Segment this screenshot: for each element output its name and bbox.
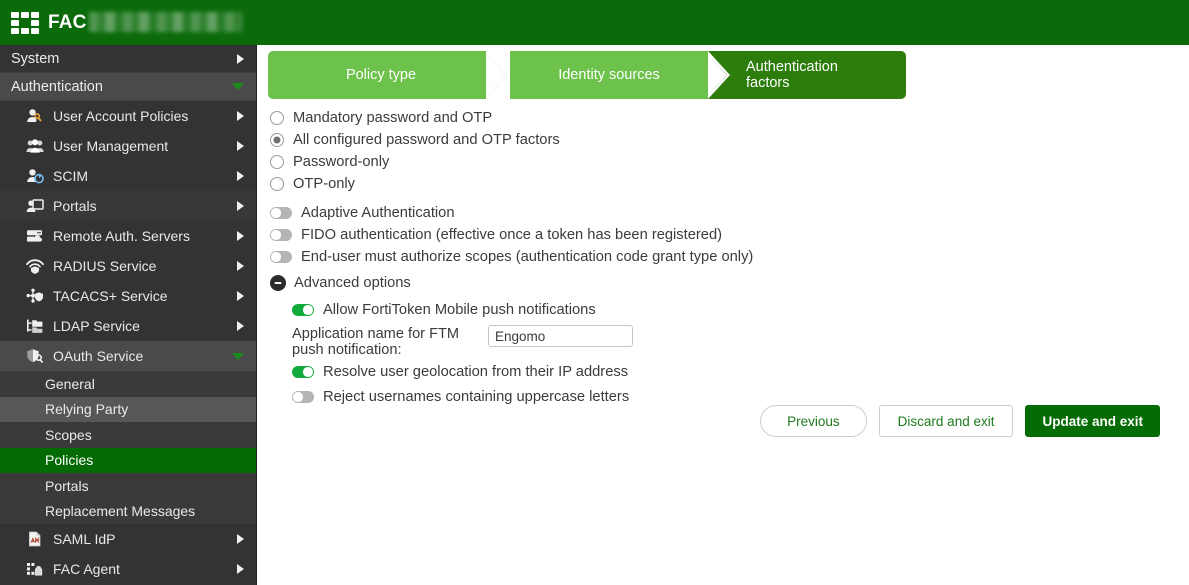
- tacacs-shield-icon: [24, 287, 46, 305]
- server-cloud-icon: [24, 227, 46, 245]
- toggle-label-reject-uppercase-usernames: Reject usernames containing uppercase le…: [323, 389, 629, 405]
- sidebar-item-portals-label: Portals: [53, 198, 237, 214]
- ftm-app-name-input[interactable]: [488, 325, 633, 347]
- sidebar-item-scim[interactable]: SCIM: [0, 161, 256, 191]
- app-root: FAC System Authentication User Account P…: [0, 0, 1189, 585]
- sidebar-section-authentication[interactable]: Authentication: [0, 73, 256, 101]
- radio-row-password-only[interactable]: Password-only: [270, 151, 753, 173]
- radio-icon-selected[interactable]: [270, 133, 284, 147]
- advanced-options-header[interactable]: Advanced options: [270, 272, 753, 294]
- sidebar-item-user-account-policies-label: User Account Policies: [53, 108, 237, 124]
- sidebar-section-authentication-label: Authentication: [11, 79, 232, 95]
- sidebar-item-tacacs-service[interactable]: TACACS+ Service: [0, 281, 256, 311]
- sidebar-item-radius-service-label: RADIUS Service: [53, 258, 237, 274]
- wizard-step-identity-sources-label: Identity sources: [558, 67, 660, 83]
- sidebar-item-saml-idp[interactable]: SAML IdP: [0, 524, 256, 554]
- sidebar-item-remote-auth-servers[interactable]: Remote Auth. Servers: [0, 221, 256, 251]
- oauth-shield-key-icon: [24, 347, 46, 365]
- sidebar-item-portals[interactable]: Portals: [0, 191, 256, 221]
- sidebar-item-tacacs-service-label: TACACS+ Service: [53, 288, 237, 304]
- toggle-switch-off-icon[interactable]: [270, 251, 292, 263]
- chevron-right-icon: [237, 291, 244, 301]
- toggle-row-reject-uppercase-usernames[interactable]: Reject usernames containing uppercase le…: [292, 386, 753, 408]
- wizard-steps: Policy type Identity sources Authenticat…: [268, 51, 906, 99]
- chevron-down-icon: [232, 83, 244, 90]
- ftm-app-name-field-group: Application name for FTM push notificati…: [292, 325, 753, 358]
- chevron-right-icon: [237, 201, 244, 211]
- radio-label-otp-only: OTP-only: [293, 176, 355, 192]
- radio-row-all-configured-factors[interactable]: All configured password and OTP factors: [270, 129, 753, 151]
- sidebar-item-ldap-service-label: LDAP Service: [53, 318, 237, 334]
- sidebar-subitem-portals[interactable]: Portals: [0, 473, 256, 499]
- sidebar-section-system[interactable]: System: [0, 45, 256, 73]
- user-wrench-icon: [24, 107, 46, 125]
- sidebar-section-system-label: System: [11, 51, 237, 67]
- chevron-right-icon: [237, 111, 244, 121]
- step-arrow-icon: [708, 51, 732, 99]
- toggle-switch-off-icon[interactable]: [292, 391, 314, 403]
- advanced-options-body: Allow FortiToken Mobile push notificatio…: [292, 299, 753, 408]
- toggle-row-fortitoken-push[interactable]: Allow FortiToken Mobile push notificatio…: [292, 299, 753, 321]
- top-header-bar: FAC: [0, 0, 1189, 45]
- sidebar-subitem-replacement-messages[interactable]: Replacement Messages: [0, 499, 256, 525]
- minus-circle-icon[interactable]: [270, 275, 286, 291]
- main-content: Policy type Identity sources Authenticat…: [258, 45, 1189, 585]
- chevron-right-icon: [237, 261, 244, 271]
- radio-row-mandatory-password-otp[interactable]: Mandatory password and OTP: [270, 107, 753, 129]
- user-screen-icon: [24, 197, 46, 215]
- sidebar-item-remote-auth-servers-label: Remote Auth. Servers: [53, 228, 237, 244]
- toggle-label-fido-authentication: FIDO authentication (effective once a to…: [301, 227, 722, 243]
- wizard-step-identity-sources[interactable]: Identity sources: [510, 51, 708, 99]
- saml-document-icon: [24, 530, 46, 548]
- brand-redacted-block: [89, 12, 242, 32]
- sidebar-item-user-account-policies[interactable]: User Account Policies: [0, 101, 256, 131]
- toggle-row-fido-authentication[interactable]: FIDO authentication (effective once a to…: [270, 224, 753, 246]
- toggle-row-resolve-geolocation[interactable]: Resolve user geolocation from their IP a…: [292, 361, 753, 383]
- toggle-label-adaptive-authentication: Adaptive Authentication: [301, 205, 455, 221]
- chevron-right-icon: [237, 231, 244, 241]
- ftm-app-name-label: Application name for FTM push notificati…: [292, 325, 488, 358]
- oauth-subnav: General Relying Party Scopes Policies Po…: [0, 371, 256, 524]
- wizard-action-buttons: Previous Discard and exit Update and exi…: [760, 405, 1160, 437]
- sidebar-item-ldap-service[interactable]: LDAP Service: [0, 311, 256, 341]
- sidebar-nav[interactable]: System Authentication User Account Polic…: [0, 45, 257, 585]
- chevron-right-icon: [237, 171, 244, 181]
- radio-icon[interactable]: [270, 111, 284, 125]
- radio-icon[interactable]: [270, 155, 284, 169]
- users-group-icon: [24, 137, 46, 155]
- step-arrow-icon: [486, 51, 510, 99]
- radio-icon[interactable]: [270, 177, 284, 191]
- toggle-label-fortitoken-push: Allow FortiToken Mobile push notificatio…: [323, 302, 596, 318]
- sidebar-item-saml-idp-label: SAML IdP: [53, 531, 237, 547]
- chevron-right-icon: [237, 534, 244, 544]
- wizard-step-policy-type[interactable]: Policy type: [268, 51, 486, 99]
- sidebar-subitem-scopes[interactable]: Scopes: [0, 422, 256, 448]
- sidebar-item-fac-agent[interactable]: FAC Agent: [0, 554, 256, 584]
- sidebar-subitem-relying-party-label: Relying Party: [45, 401, 128, 417]
- advanced-options-label: Advanced options: [294, 275, 411, 291]
- brand-title: FAC: [48, 12, 242, 34]
- wizard-step-authentication-factors[interactable]: Authentication factors: [732, 51, 906, 99]
- wizard-step-authentication-factors-label: Authentication factors: [746, 59, 880, 91]
- toggle-label-resolve-geolocation: Resolve user geolocation from their IP a…: [323, 364, 628, 380]
- user-sync-icon: [24, 167, 46, 185]
- sidebar-item-fac-agent-label: FAC Agent: [53, 561, 237, 577]
- sidebar-item-user-management-label: User Management: [53, 138, 237, 154]
- chevron-right-icon: [237, 321, 244, 331]
- auth-factor-options: Mandatory password and OTP All configure…: [270, 107, 753, 408]
- sidebar-subitem-relying-party[interactable]: Relying Party: [0, 397, 256, 423]
- radius-shield-icon: [24, 257, 46, 275]
- previous-button[interactable]: Previous: [760, 405, 867, 437]
- toggle-switch-on-icon[interactable]: [292, 304, 314, 316]
- sidebar-item-radius-service[interactable]: RADIUS Service: [0, 251, 256, 281]
- toggle-switch-on-icon[interactable]: [292, 366, 314, 378]
- sidebar-subitem-general[interactable]: General: [0, 371, 256, 397]
- sidebar-item-oauth-service-label: OAuth Service: [53, 348, 232, 364]
- chevron-right-icon: [237, 141, 244, 151]
- sidebar-item-oauth-service[interactable]: OAuth Service: [0, 341, 256, 371]
- discard-and-exit-button[interactable]: Discard and exit: [879, 405, 1014, 437]
- brand-label: FAC: [48, 12, 87, 33]
- sidebar-subitem-policies[interactable]: Policies: [0, 448, 256, 474]
- chevron-right-icon: [237, 564, 244, 574]
- toggle-row-authorize-scopes[interactable]: End-user must authorize scopes (authenti…: [270, 246, 753, 268]
- sidebar-subitem-general-label: General: [45, 376, 95, 392]
- sidebar-item-scim-label: SCIM: [53, 168, 237, 184]
- sidebar-item-user-management[interactable]: User Management: [0, 131, 256, 161]
- grid-logo-icon[interactable]: [11, 12, 39, 34]
- wizard-step-policy-type-label: Policy type: [346, 67, 416, 83]
- radio-label-all-configured-factors: All configured password and OTP factors: [293, 132, 560, 148]
- sidebar-subitem-policies-label: Policies: [45, 452, 93, 468]
- toggle-label-authorize-scopes: End-user must authorize scopes (authenti…: [301, 249, 753, 265]
- chevron-down-icon: [232, 353, 244, 360]
- fac-agent-icon: [24, 560, 46, 578]
- update-and-exit-button[interactable]: Update and exit: [1025, 405, 1160, 437]
- toggle-row-adaptive-authentication[interactable]: Adaptive Authentication: [270, 202, 753, 224]
- toggle-switch-off-icon[interactable]: [270, 207, 292, 219]
- chevron-right-icon: [237, 54, 244, 64]
- toggle-switch-off-icon[interactable]: [270, 229, 292, 241]
- sidebar-subitem-replacement-messages-label: Replacement Messages: [45, 503, 195, 519]
- radio-label-mandatory-password-otp: Mandatory password and OTP: [293, 110, 492, 126]
- radio-label-password-only: Password-only: [293, 154, 389, 170]
- sidebar-subitem-portals-label: Portals: [45, 478, 89, 494]
- ldap-tree-icon: [24, 317, 46, 335]
- sidebar-subitem-scopes-label: Scopes: [45, 427, 92, 443]
- radio-row-otp-only[interactable]: OTP-only: [270, 173, 753, 195]
